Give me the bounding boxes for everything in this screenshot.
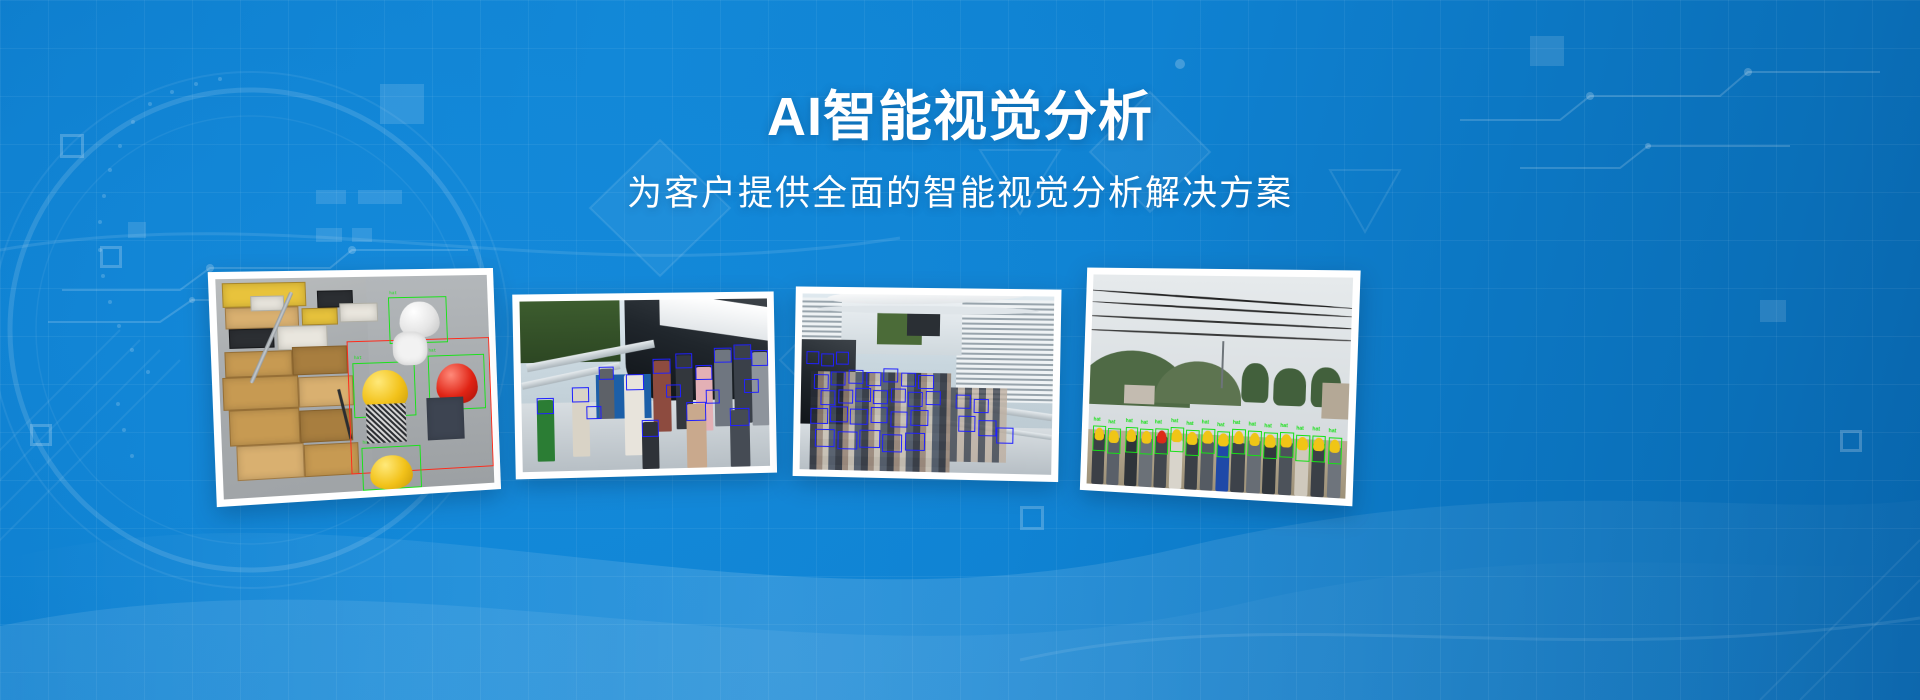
detection-box xyxy=(1216,431,1230,457)
photo-outdoor-hardhat-detection[interactable]: hat hat hat hat hat hat hat xyxy=(1080,268,1361,507)
detection-box xyxy=(1279,432,1294,459)
photo-station-content xyxy=(800,293,1055,474)
photo-footbridge-content xyxy=(519,298,770,472)
detection-box xyxy=(1185,429,1199,455)
detection-box xyxy=(744,379,759,393)
detection-label: hat xyxy=(1141,421,1148,426)
photo-outdoor-content: hat hat hat hat hat hat hat xyxy=(1087,274,1354,498)
detection-label: hat xyxy=(1233,421,1241,426)
detection-label: hat xyxy=(1248,423,1256,428)
detection-label: hat xyxy=(1171,419,1178,424)
detection-box xyxy=(734,344,751,359)
detection-box xyxy=(1311,435,1326,462)
detection-box xyxy=(1263,432,1278,459)
square-solid-decoration xyxy=(1530,36,1564,66)
detection-box xyxy=(1107,428,1121,454)
detection-box xyxy=(926,391,941,405)
detection-label: hat xyxy=(1126,419,1133,424)
detection-box xyxy=(1125,427,1139,453)
page-subtitle: 为客户提供全面的智能视觉分析解决方案 xyxy=(0,173,1920,215)
detection-box xyxy=(918,375,933,389)
photo-warehouse-content: hat hat hat hat xyxy=(215,275,494,500)
detection-label: hat xyxy=(1202,421,1209,426)
detection-label: hat xyxy=(1108,421,1115,426)
detection-box xyxy=(830,406,848,422)
detection-box xyxy=(536,398,554,414)
photo-warehouse-helmet-detection[interactable]: hat hat hat hat xyxy=(208,268,501,507)
detection-label: hat xyxy=(1328,429,1336,434)
detection-box xyxy=(1170,427,1184,453)
detection-box xyxy=(587,406,602,420)
detection-box xyxy=(1295,434,1310,461)
detection-label: hat xyxy=(1296,427,1304,432)
detection-box xyxy=(598,366,613,380)
detection-box xyxy=(838,389,853,403)
detection-box xyxy=(810,408,828,424)
detection-box xyxy=(571,387,589,403)
detection-box xyxy=(836,352,849,365)
detection-label: hat xyxy=(389,292,397,297)
detection-box xyxy=(821,390,836,404)
hero-text-block: AI智能视觉分析 为客户提供全面的智能视觉分析解决方案 xyxy=(0,86,1920,215)
detection-box xyxy=(813,374,828,388)
detection-box xyxy=(666,384,681,398)
detection-box xyxy=(1093,425,1107,451)
detection-label: hat xyxy=(1155,421,1162,426)
detection-box xyxy=(642,420,660,437)
detection-box xyxy=(905,433,925,451)
detection-box xyxy=(850,409,868,425)
detection-box xyxy=(1140,428,1154,454)
detection-box xyxy=(705,390,720,404)
detection-label: hat xyxy=(428,350,436,355)
detection-box xyxy=(1155,428,1169,454)
detection-box xyxy=(870,407,888,423)
detection-box xyxy=(883,369,898,383)
detection-box xyxy=(806,352,819,364)
detection-box xyxy=(815,429,835,447)
detection-label: hat xyxy=(1217,423,1225,428)
detection-box xyxy=(910,410,928,426)
detection-box xyxy=(848,370,863,384)
photo-gallery: hat hat hat hat xyxy=(0,255,1920,520)
detection-box xyxy=(958,416,976,432)
detection-label: hat xyxy=(1093,418,1100,423)
square-solid-decoration xyxy=(352,228,372,242)
detection-box xyxy=(714,348,731,363)
detection-box xyxy=(978,420,996,436)
ai-vision-hero-banner: AI智能视觉分析 为客户提供全面的智能视觉分析解决方案 xyxy=(0,0,1920,700)
detection-box xyxy=(821,354,834,367)
detection-box xyxy=(855,388,870,402)
detection-label: hat xyxy=(1312,428,1320,433)
detection-label: hat xyxy=(1280,424,1288,429)
detection-box xyxy=(730,408,750,427)
detection-label: hat xyxy=(1186,422,1193,427)
detection-box xyxy=(751,350,768,365)
photo-footbridge-crowd-detection[interactable] xyxy=(512,291,777,479)
detection-box xyxy=(973,399,988,413)
detection-label: hat xyxy=(354,356,362,361)
detection-box xyxy=(996,427,1014,443)
square-solid-decoration xyxy=(128,222,146,238)
detection-box xyxy=(860,430,880,448)
detection-box xyxy=(653,359,671,374)
detection-box xyxy=(1232,428,1246,455)
detection-box xyxy=(866,372,881,386)
detection-box xyxy=(1327,437,1342,464)
detection-label: hat xyxy=(1264,424,1272,429)
detection-box xyxy=(695,365,712,380)
detection-box xyxy=(1201,428,1215,454)
detection-box xyxy=(686,402,706,421)
detection-box xyxy=(831,371,846,385)
detection-box xyxy=(675,353,693,368)
detection-box xyxy=(956,395,971,409)
square-solid-decoration xyxy=(316,228,342,242)
detection-box xyxy=(1247,430,1262,457)
detection-box xyxy=(837,431,857,449)
detection-box xyxy=(890,411,908,427)
page-title: AI智能视觉分析 xyxy=(0,86,1920,149)
detection-box xyxy=(626,374,644,390)
detection-box xyxy=(873,390,888,404)
detection-box xyxy=(901,372,916,386)
detection-box xyxy=(882,434,902,452)
photo-station-platform-crowd-detection[interactable] xyxy=(793,286,1062,482)
detection-box xyxy=(891,388,906,402)
detection-box xyxy=(908,392,923,406)
